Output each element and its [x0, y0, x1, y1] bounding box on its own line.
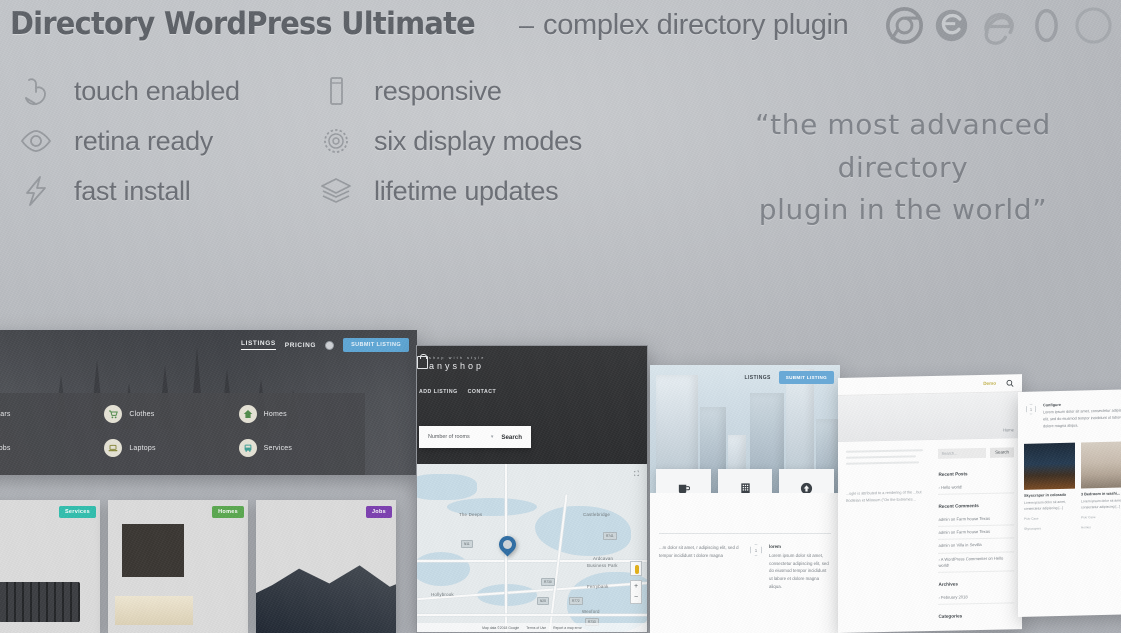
pegman-streetview-icon[interactable]	[630, 561, 642, 576]
feature-label: retina ready	[74, 126, 213, 157]
main-nav: LISTINGS PRICING SUBMIT LISTING	[241, 338, 409, 352]
route-shield: R730	[541, 578, 555, 586]
divider	[659, 533, 831, 534]
opera-icon	[1029, 7, 1064, 44]
step-block: 1 lorem Lorem ipsum dolor sit amet, cons…	[750, 544, 831, 591]
search-input[interactable]: Search...	[938, 448, 986, 459]
left-paragraph: ...m dolor sit amet, r adipiscing elit, …	[659, 544, 740, 559]
main-nav: LISTINGS SUBMIT LISTING	[745, 371, 834, 384]
category-services[interactable]: Services	[231, 439, 365, 457]
page-title: Directory WordPress Ultimate – complex d…	[10, 6, 849, 42]
category-skyscrapers[interactable]: Skyscrapers	[718, 469, 773, 493]
search-button[interactable]: Search	[990, 447, 1014, 458]
feature-retina-ready: retina ready	[8, 116, 308, 166]
category-label: Homes	[264, 411, 287, 418]
feature-touch-enabled: touch enabled	[8, 66, 308, 116]
status-badge: Homes	[212, 506, 244, 518]
demo-link[interactable]: Demo	[983, 381, 996, 386]
bus-icon	[239, 439, 257, 457]
listing-category: Skyscrapers	[1024, 525, 1075, 532]
feature-six-display-modes: six display modes	[308, 116, 608, 166]
blog-hero: Home	[838, 392, 1022, 442]
chevron-down-icon[interactable]: ▾	[491, 434, 494, 440]
title-bold: Directory WordPress Ultimate	[10, 6, 475, 42]
category-jobs[interactable]: Jobs	[0, 439, 96, 457]
category-tunnels[interactable]: Tunnels	[779, 469, 834, 493]
search-icon[interactable]	[1006, 374, 1014, 392]
listing-author: Piotr Case	[1081, 514, 1121, 521]
submit-listing-button[interactable]: SUBMIT LISTING	[779, 371, 834, 384]
google-map[interactable]: The Deeps Castlebridge Ardcavan Business…	[417, 464, 647, 632]
archives-title: Archives	[938, 580, 1014, 587]
coffee-cup-icon	[677, 482, 690, 493]
map-data-credit: Map data ©2018 Google	[482, 626, 519, 630]
logo-name: anyshop	[429, 361, 486, 371]
lightning-bolt-icon	[16, 171, 56, 211]
category-label: Clothes	[129, 411, 154, 418]
map-label: The Deeps	[459, 512, 482, 517]
sidebar-search[interactable]: Search... Search	[938, 447, 1014, 459]
listing-thumbnail	[1024, 443, 1075, 490]
article-caption: ...ogle is attributed to a rendering of …	[846, 489, 929, 504]
category-cars[interactable]: Cars	[0, 405, 96, 423]
listing-author: Piotr Case	[1024, 516, 1075, 523]
screenshot-skyscraper-directory[interactable]: LISTINGS SUBMIT LISTING Restaurants Skys…	[650, 365, 840, 633]
listing-title[interactable]: 3 Bedroom in washi...	[1081, 492, 1121, 497]
route-shield: N25	[537, 597, 549, 605]
anyshop-header: shop with style anyshop ADD LISTING CONT…	[417, 346, 647, 464]
category-laptops[interactable]: Laptops	[96, 439, 230, 457]
promo-banner: Directory WordPress Ultimate – complex d…	[0, 0, 1121, 633]
feature-label: fast install	[74, 176, 190, 207]
step-number: 1	[750, 544, 762, 556]
categories-title: Categories	[938, 612, 1014, 619]
nav-item-add-listing[interactable]: ADD LISTING	[419, 389, 458, 395]
listing-thumbnail	[1081, 442, 1121, 489]
category-restaurants[interactable]: Restaurants	[656, 469, 711, 493]
firefox-icon	[933, 7, 970, 44]
rooms-select[interactable]: Number of rooms	[428, 434, 483, 440]
route-shield: R772	[569, 597, 583, 605]
feature-responsive: responsive	[308, 66, 608, 116]
arrow-up-icon	[800, 482, 813, 493]
listing-card[interactable]: Services	[0, 500, 100, 633]
text-block-left: ...m dolor sit amet, r adipiscing elit, …	[659, 544, 740, 591]
recent-comment-item[interactable]: A WordPress Commenter on Hello world!	[938, 552, 1014, 573]
layers-icon	[316, 171, 356, 211]
fullscreen-icon[interactable]: ⛶	[631, 469, 642, 480]
status-badge: Jobs	[366, 506, 392, 518]
route-shield: R741	[603, 532, 617, 540]
listing-card-row: Services Homes Jobs	[0, 500, 420, 633]
terms-of-use-link[interactable]: Terms of Use	[526, 626, 546, 630]
status-badge: Services	[59, 506, 96, 518]
nav-item-pricing[interactable]: PRICING	[285, 342, 316, 349]
listing-card-grid: Skyscraper in colorado Lorem ipsum dolor…	[1018, 428, 1121, 533]
quote-line-2: plugin in the world”	[693, 189, 1113, 232]
recent-posts-title: Recent Posts	[938, 470, 1014, 477]
category-clothes[interactable]: Clothes	[96, 405, 230, 423]
listing-title[interactable]: Skyscraper in colorado	[1024, 493, 1075, 498]
mobile-phone-icon	[316, 71, 356, 111]
feature-label: responsive	[374, 76, 502, 107]
safari-icon	[1074, 6, 1113, 45]
breadcrumb[interactable]: Home	[1003, 427, 1014, 432]
nav-item-contact[interactable]: CONTACT	[468, 389, 496, 395]
map-label: Wexford	[582, 609, 600, 614]
map-label: Ardcavan	[593, 556, 613, 561]
nav-item-listings[interactable]: LISTINGS	[745, 375, 771, 381]
category-homes[interactable]: Homes	[231, 405, 365, 423]
article-column: ...ogle is attributed to a rendering of …	[846, 449, 929, 626]
search-button[interactable]: Search	[501, 434, 522, 441]
feature-fast-install: fast install	[8, 166, 308, 216]
step-title: lorem	[769, 544, 831, 549]
map-label: Castlebridge	[583, 512, 610, 517]
anyshop-nav: ADD LISTING CONTACT	[417, 389, 496, 395]
hand-touch-icon	[16, 71, 56, 111]
step-text: Lorem ipsum dolor sit amet, consectetur …	[1043, 407, 1121, 430]
listing-excerpt: Lorem ipsum dolor sit amet, consectetur …	[1081, 499, 1121, 512]
title-subtitle: complex directory plugin	[543, 9, 849, 42]
map-label: Ferrybank	[587, 584, 609, 589]
logo-tagline: shop with style	[429, 356, 486, 360]
route-shield: N11	[461, 540, 473, 548]
step-title: Configure	[1043, 401, 1121, 407]
category-label: Services	[264, 445, 292, 452]
hero-skyline: LISTINGS SUBMIT LISTING Restaurants Skys…	[650, 365, 840, 493]
listing-card[interactable]: Jobs	[256, 500, 396, 633]
feature-list: touch enabled responsive retina ready	[8, 66, 608, 216]
step-text: Lorem ipsum dolor sit amet, consectetur …	[769, 552, 831, 591]
map-zoom-controls[interactable]: + −	[630, 580, 642, 604]
sidebar-column: Search... Search Recent Posts Hello worl…	[938, 447, 1014, 624]
screenshot-anyshop-map[interactable]: shop with style anyshop ADD LISTING CONT…	[416, 345, 648, 633]
internet-explorer-icon	[980, 6, 1019, 45]
submit-listing-button[interactable]: SUBMIT LISTING	[343, 338, 409, 352]
feature-label: six display modes	[374, 126, 582, 157]
zoom-out-button[interactable]: −	[634, 592, 638, 603]
listing-category: Homes	[1081, 524, 1121, 531]
archive-item[interactable]: February 2018	[938, 590, 1014, 605]
recent-post-item[interactable]: Hello world!	[938, 480, 1014, 495]
feature-lifetime-updates: lifetime updates	[308, 166, 608, 216]
nav-item-listings[interactable]: LISTINGS	[241, 340, 276, 350]
map-label: Business Park	[587, 563, 618, 568]
shopping-bag-icon	[417, 356, 428, 369]
step-number: 1	[1026, 404, 1036, 415]
search-bar[interactable]: Number of rooms ▾ Search	[419, 426, 531, 448]
map-marker[interactable]	[495, 532, 519, 556]
anyshop-logo[interactable]: shop with style anyshop	[429, 356, 486, 371]
listing-card[interactable]: 3 Bedroom in washi... Lorem ipsum dolor …	[1081, 442, 1121, 531]
category-tiles: Restaurants Skyscrapers Tunnels	[656, 469, 834, 493]
category-label: Laptops	[129, 445, 155, 452]
map-label: Hollybrook	[431, 592, 454, 597]
site-logo[interactable]: S H P	[0, 340, 2, 351]
report-map-error-link[interactable]: Report a map error	[553, 626, 582, 630]
feature-label: touch enabled	[74, 76, 240, 107]
content-section: ...m dolor sit amet, r adipiscing elit, …	[650, 493, 840, 591]
gear-icon	[316, 121, 356, 161]
eye-icon	[16, 121, 56, 161]
laptop-icon	[104, 439, 122, 457]
user-avatar-icon[interactable]	[325, 341, 334, 350]
testimonial-quote: “the most advanced directory plugin in t…	[693, 104, 1113, 232]
chrome-icon	[886, 7, 923, 44]
category-panel: Cars Clothes Homes Jobs Laptops Services	[0, 393, 365, 475]
listing-card[interactable]: Skyscraper in colorado Lorem ipsum dolor…	[1024, 443, 1075, 532]
site-header: S H P LISTINGS PRICING SUBMIT LISTING	[0, 330, 417, 360]
category-label: Jobs	[0, 445, 11, 452]
quote-line-1: “the most advanced directory	[755, 108, 1051, 184]
browser-compatibility-icons	[886, 6, 1113, 45]
category-label: Cars	[0, 411, 11, 418]
zoom-in-button[interactable]: +	[634, 581, 638, 592]
building-icon	[739, 482, 752, 493]
step-block: 1 Configure Lorem ipsum dolor sit amet, …	[1018, 389, 1121, 430]
feature-label: lifetime updates	[374, 176, 558, 207]
title-dash: –	[519, 10, 534, 41]
map-attribution: Map data ©2018 Google Terms of Use Repor…	[417, 623, 647, 632]
screenshot-listing-cards[interactable]: 1 Configure Lorem ipsum dolor sit amet, …	[1018, 389, 1121, 617]
listing-excerpt: Lorem ipsum dolor sit amet, consectetur …	[1024, 500, 1075, 513]
recent-comments-title: Recent Comments	[938, 502, 1014, 509]
cart-icon	[104, 405, 122, 423]
listing-card[interactable]: Homes	[108, 500, 248, 633]
screenshot-blog-sidebar[interactable]: Demo Home ...ogle is attributed to a ren…	[838, 374, 1022, 633]
house-icon	[239, 405, 257, 423]
screenshot-directory-home[interactable]: S H P LISTINGS PRICING SUBMIT LISTING Ca…	[0, 330, 417, 475]
